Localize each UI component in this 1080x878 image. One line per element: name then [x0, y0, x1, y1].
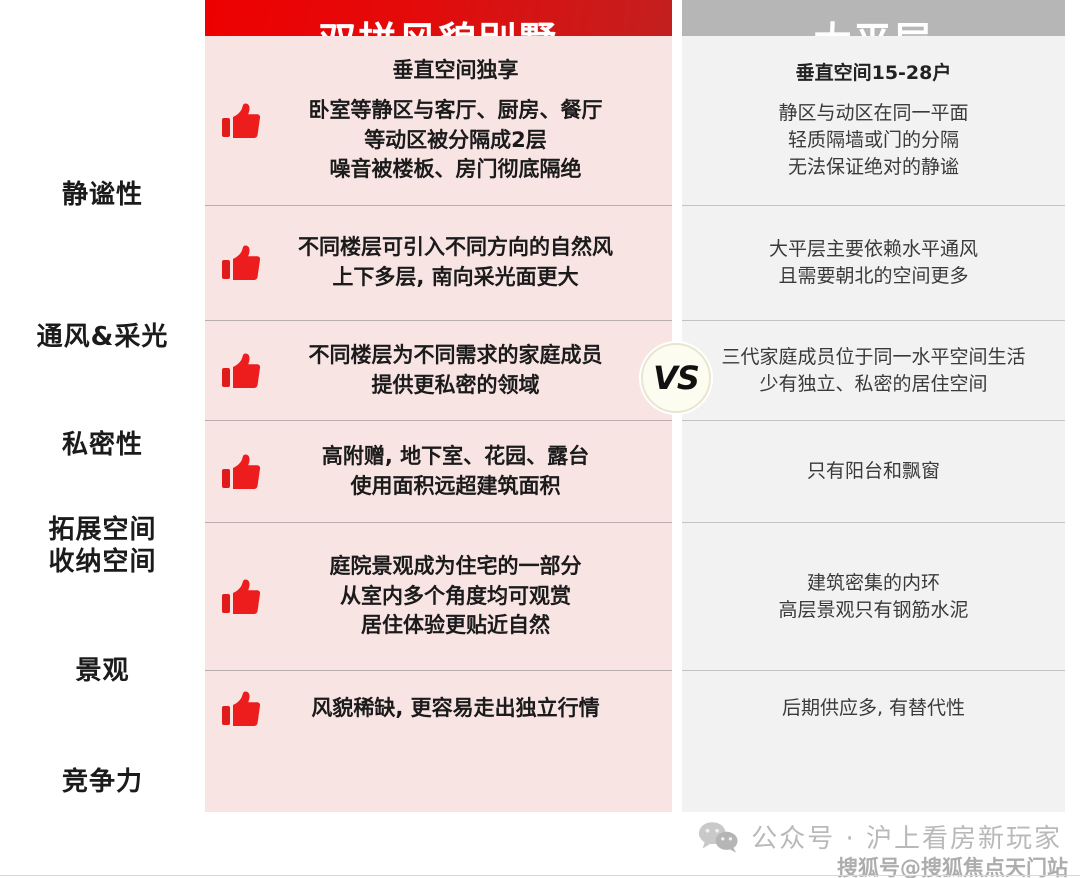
thumbs-up-icon: [221, 352, 261, 390]
right-cell-row-6: 后期供应多, 有替代性: [682, 671, 1065, 746]
row-label-line: 静谧性: [0, 179, 205, 212]
row-label-line: 私密性: [0, 429, 205, 462]
right-cell-line: 三代家庭成员位于同一水平空间生活: [721, 344, 1025, 371]
right-margin: [1065, 0, 1080, 830]
left-column-header-wrap: 双拼风貌别墅: [205, 0, 672, 36]
left-cell-line: 卧室等静区与客厅、厨房、餐厅: [309, 96, 603, 126]
vs-badge: VS: [641, 343, 711, 413]
right-column-header-wrap: 大平层: [682, 0, 1065, 36]
right-cell-line: 大平层主要依赖水平通风: [769, 236, 978, 263]
row-label-1: 静谧性: [0, 110, 205, 280]
right-cell-text: 只有阳台和飘窗: [807, 458, 940, 485]
right-cell-text: 大平层主要依赖水平通风且需要朝北的空间更多: [769, 236, 978, 290]
right-cell-text: 垂直空间15-28户静区与动区在同一平面轻质隔墙或门的分隔无法保证绝对的静谧: [778, 60, 968, 181]
left-cell-line: 不同楼层为不同需求的家庭成员: [309, 341, 603, 371]
right-cell-line: 高层景观只有钢筋水泥: [778, 597, 968, 624]
wechat-label: 公众号 · 沪上看房新玩家: [751, 818, 1062, 855]
comparison-grid: 静谧性通风&采光私密性拓展空间收纳空间景观竞争力 双拼风貌别墅 垂直空间独享卧室…: [0, 0, 1080, 830]
left-cell-line: 噪音被楼板、房门彻底隔绝: [309, 155, 603, 185]
left-column-body: 垂直空间独享卧室等静区与客厅、厨房、餐厅等动区被分隔成2层噪音被楼板、房门彻底隔…: [205, 36, 672, 830]
left-cell-row-6: 风貌稀缺, 更容易走出独立行情: [205, 671, 672, 746]
right-cell-text: 后期供应多, 有替代性: [782, 695, 965, 722]
right-column-body: 垂直空间15-28户静区与动区在同一平面轻质隔墙或门的分隔无法保证绝对的静谧大平…: [682, 36, 1065, 830]
row-label-line: 收纳空间: [0, 546, 205, 579]
left-cell-line: 风貌稀缺, 更容易走出独立行情: [311, 694, 599, 724]
right-cell-row-1: 垂直空间15-28户静区与动区在同一平面轻质隔墙或门的分隔无法保证绝对的静谧: [682, 36, 1065, 206]
left-cell-line: 上下多层, 南向采光面更大: [298, 263, 613, 293]
left-cell-line: 高附赠, 地下室、花园、露台: [322, 442, 589, 472]
right-cell-line: 且需要朝北的空间更多: [769, 263, 978, 290]
left-cell-line: 不同楼层可引入不同方向的自然风: [298, 233, 613, 263]
right-cell-lead: 垂直空间15-28户: [778, 60, 968, 87]
comparison-infographic: 静谧性通风&采光私密性拓展空间收纳空间景观竞争力 双拼风貌别墅 垂直空间独享卧室…: [0, 0, 1080, 878]
right-cell-line: 少有独立、私密的居住空间: [721, 371, 1025, 398]
left-cell-line: 使用面积远超建筑面积: [322, 472, 589, 502]
right-cell-line: 后期供应多, 有替代性: [782, 695, 965, 722]
right-cell-line: 无法保证绝对的静谧: [778, 154, 968, 181]
right-cell-text: 三代家庭成员位于同一水平空间生活少有独立、私密的居住空间: [721, 344, 1025, 398]
left-cell-line: 庭院景观成为住宅的一部分: [330, 552, 582, 582]
right-cell-row-2: 大平层主要依赖水平通风且需要朝北的空间更多: [682, 206, 1065, 321]
left-cell-text: 庭院景观成为住宅的一部分从室内多个角度均可观赏居住体验更贴近自然: [296, 552, 582, 641]
left-cell-line: 等动区被分隔成2层: [309, 126, 603, 156]
left-cell-text: 不同楼层为不同需求的家庭成员提供更私密的领域: [275, 341, 603, 401]
left-cell-text: 高附赠, 地下室、花园、露台使用面积远超建筑面积: [288, 442, 589, 502]
footer-divider: [0, 875, 1080, 876]
left-cell-text: 风貌稀缺, 更容易走出独立行情: [277, 694, 599, 724]
thumbs-up-icon: [221, 244, 261, 282]
left-cell-lead: 垂直空间独享: [309, 56, 603, 86]
row-label-line: 竞争力: [0, 766, 205, 799]
row-label-3: 私密性: [0, 395, 205, 495]
left-cell-line: 从室内多个角度均可观赏: [330, 582, 582, 612]
right-cell-line: 建筑密集的内环: [778, 570, 968, 597]
thumbs-up-icon: [221, 578, 261, 616]
left-cell-row-3: 不同楼层为不同需求的家庭成员提供更私密的领域: [205, 321, 672, 421]
left-cell-text: 不同楼层可引入不同方向的自然风上下多层, 南向采光面更大: [264, 233, 613, 293]
left-cell-row-5: 庭院景观成为住宅的一部分从室内多个角度均可观赏居住体验更贴近自然: [205, 523, 672, 671]
footer: 公众号 · 沪上看房新玩家 搜狐号@搜狐焦点天门站: [0, 812, 1080, 878]
right-cell-row-4: 只有阳台和飘窗: [682, 421, 1065, 523]
row-label-line: 景观: [0, 655, 205, 688]
right-cell-text: 建筑密集的内环高层景观只有钢筋水泥: [778, 570, 968, 624]
right-cell-row-3: 三代家庭成员位于同一水平空间生活少有独立、私密的居住空间: [682, 321, 1065, 421]
thumbs-up-icon: [221, 102, 261, 140]
left-cell-line: 提供更私密的领域: [309, 371, 603, 401]
right-cell-line: 静区与动区在同一平面: [778, 100, 968, 127]
row-label-6: 竞争力: [0, 745, 205, 820]
row-label-4: 拓展空间收纳空间: [0, 495, 205, 597]
left-cell-row-2: 不同楼层可引入不同方向的自然风上下多层, 南向采光面更大: [205, 206, 672, 321]
row-label-line: 通风&采光: [0, 321, 205, 354]
left-cell-text: 垂直空间独享卧室等静区与客厅、厨房、餐厅等动区被分隔成2层噪音被楼板、房门彻底隔…: [275, 56, 603, 185]
row-label-column: 静谧性通风&采光私密性拓展空间收纳空间景观竞争力: [0, 0, 205, 830]
thumbs-up-icon: [221, 453, 261, 491]
wechat-icon: [697, 820, 739, 854]
right-cell-line: 轻质隔墙或门的分隔: [778, 127, 968, 154]
right-cell-row-5: 建筑密集的内环高层景观只有钢筋水泥: [682, 523, 1065, 671]
row-label-2: 通风&采光: [0, 280, 205, 395]
left-cell-row-1: 垂直空间独享卧室等静区与客厅、厨房、餐厅等动区被分隔成2层噪音被楼板、房门彻底隔…: [205, 36, 672, 206]
right-cell-line: 只有阳台和飘窗: [807, 458, 940, 485]
thumbs-up-icon: [221, 690, 261, 728]
row-label-5: 景观: [0, 597, 205, 745]
column-gap: [672, 0, 682, 830]
wechat-brand: 公众号 · 沪上看房新玩家: [697, 818, 1062, 855]
left-cell-row-4: 高附赠, 地下室、花园、露台使用面积远超建筑面积: [205, 421, 672, 523]
row-label-line: 拓展空间: [0, 514, 205, 547]
left-cell-line: 居住体验更贴近自然: [330, 611, 582, 641]
